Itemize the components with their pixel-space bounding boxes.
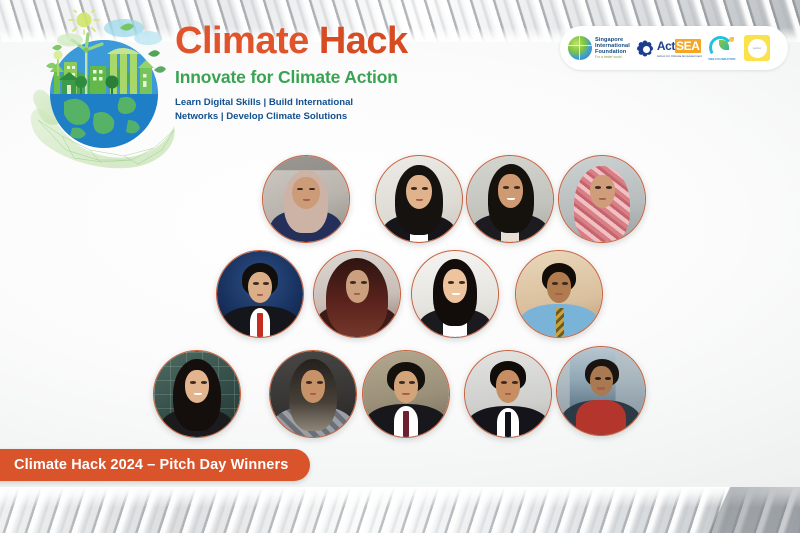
winner-photo-1 <box>262 155 350 243</box>
winners-photo-grid <box>0 0 800 450</box>
winner-photo-8 <box>515 250 603 338</box>
winner-photo-12 <box>464 350 552 438</box>
winner-photo-4 <box>558 155 646 243</box>
status-banner-label: Climate Hack 2024 – Pitch Day Winners <box>14 457 288 473</box>
winner-photo-11 <box>362 350 450 438</box>
winner-photo-6 <box>313 250 401 338</box>
winner-photo-13 <box>556 346 646 436</box>
winner-photo-3 <box>466 155 554 243</box>
winner-photo-9 <box>153 350 241 438</box>
winner-photo-7 <box>411 250 499 338</box>
bottom-architecture-banner-image <box>0 487 800 533</box>
winner-photo-10 <box>269 350 357 438</box>
status-banner: Climate Hack 2024 – Pitch Day Winners <box>0 449 310 481</box>
winner-photo-5 <box>216 250 304 338</box>
presentation-slide: Climate Hack Innovate for Climate Action… <box>0 0 800 533</box>
winner-photo-2 <box>375 155 463 243</box>
